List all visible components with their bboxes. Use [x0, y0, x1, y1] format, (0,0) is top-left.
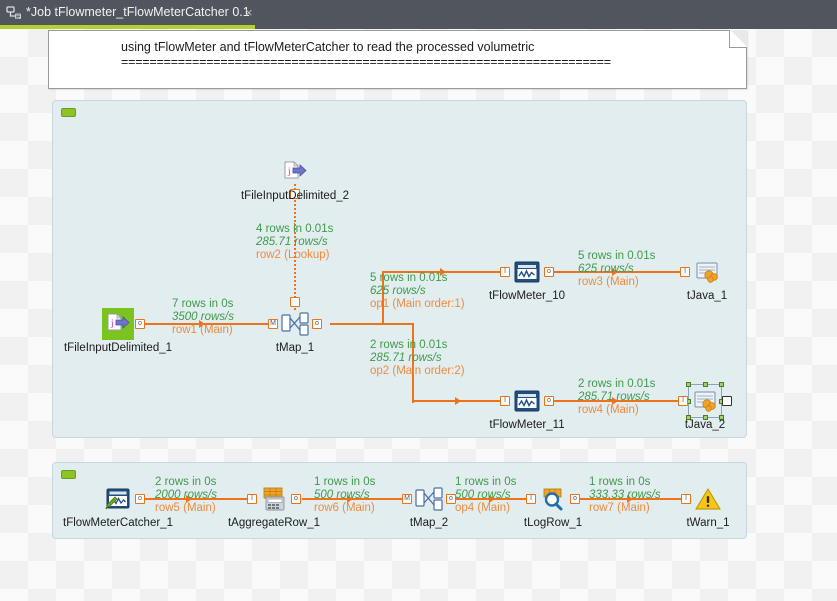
- main-input-port[interactable]: l: [681, 494, 691, 504]
- main-input-port[interactable]: l: [678, 396, 688, 406]
- resize-handle-nw[interactable]: [686, 382, 691, 387]
- job-note[interactable]: using tFlowMeter and tFlowMeterCatcher t…: [48, 30, 747, 89]
- component-label: tFlowMeter_10: [489, 290, 565, 302]
- flowmeter-icon: [511, 385, 543, 417]
- java-icon: [691, 256, 723, 288]
- component-tflowmetercatcher-1[interactable]: o tFlowMeterCatcher_1: [102, 483, 134, 515]
- logrow-icon: [537, 483, 569, 515]
- java-icon: [689, 385, 721, 417]
- note-text-line-2: ========================================…: [121, 55, 611, 69]
- main-input-port[interactable]: l: [526, 494, 536, 504]
- port-label: l: [501, 267, 509, 277]
- component-tflowmeter-10[interactable]: l o tFlowMeter_10: [511, 256, 543, 288]
- output-port[interactable]: o: [544, 396, 554, 406]
- output-port[interactable]: o: [135, 319, 145, 329]
- flowmeter-catcher-icon: [102, 483, 134, 515]
- file-input-delimited-icon: j: [102, 308, 134, 340]
- note-text-line-1: using tFlowMeter and tFlowMeterCatcher t…: [121, 40, 534, 54]
- port-label: l: [527, 494, 535, 504]
- output-port[interactable]: o: [312, 319, 322, 329]
- output-port[interactable]: o: [135, 494, 145, 504]
- component-label: tMap_1: [276, 342, 314, 354]
- component-tmap-2[interactable]: M o tMap_2: [413, 483, 445, 515]
- link-label-row7: 1 rows in 0s 333.33 rows/s row7 (Main): [589, 476, 661, 515]
- port-label: o: [313, 319, 321, 329]
- output-port[interactable]: o: [446, 494, 456, 504]
- subjob-collapse-toggle[interactable]: [61, 108, 76, 117]
- component-twarn-1[interactable]: l tWarn_1: [692, 483, 724, 515]
- component-tjava-2[interactable]: l tJava_2: [689, 385, 721, 417]
- flowmeter-icon: [511, 256, 543, 288]
- link-label-row1: 7 rows in 0s 3500 rows/s row1 (Main): [172, 298, 234, 337]
- main-input-port[interactable]: M: [402, 494, 412, 504]
- port-label: l: [501, 396, 509, 406]
- main-input-port[interactable]: l: [500, 396, 510, 406]
- main-input-port[interactable]: l: [500, 267, 510, 277]
- port-label: l: [679, 396, 687, 406]
- link-label-row6: 1 rows in 0s 500 rows/s row6 (Main): [314, 476, 375, 515]
- job-tab-icon: [6, 5, 22, 21]
- component-tlogrow-1[interactable]: l o tLogRow_1: [537, 483, 569, 515]
- link-tmap1-out[interactable]: [330, 323, 383, 325]
- talend-job-designer: *Job tFlowmeter_tFlowMeterCatcher 0.1 × …: [0, 0, 837, 601]
- warn-icon: [692, 483, 724, 515]
- link-label-row2: 4 rows in 0.01s 285.71 rows/s row2 (Look…: [256, 223, 333, 262]
- main-input-port[interactable]: l: [680, 267, 690, 277]
- component-label: tWarn_1: [686, 517, 729, 529]
- output-port[interactable]: o: [570, 494, 580, 504]
- resize-handle-ne[interactable]: [719, 382, 724, 387]
- component-tflowmeter-11[interactable]: l o tFlowMeter_11: [511, 385, 543, 417]
- link-label-row3: 5 rows in 0.01s 625 rows/s row3 (Main): [578, 250, 655, 289]
- note-fold-corner: [729, 30, 747, 48]
- svg-text:j: j: [110, 318, 114, 328]
- output-port[interactable]: o: [544, 267, 554, 277]
- link-label-op2: 2 rows in 0.01s 285.71 rows/s op2 (Main …: [370, 339, 465, 378]
- port-label: M: [403, 494, 411, 504]
- link-label-row4: 2 rows in 0.01s 285.71 rows/s row4 (Main…: [578, 378, 655, 417]
- subjob-collapse-toggle[interactable]: [61, 470, 76, 479]
- port-label: o: [136, 494, 144, 504]
- component-label: tFlowMeter_11: [489, 419, 564, 431]
- lookup-input-port[interactable]: [290, 297, 300, 307]
- main-input-port[interactable]: M: [268, 319, 278, 329]
- main-input-port[interactable]: l: [247, 494, 257, 504]
- component-label: tFileInputDelimited_1: [64, 342, 172, 354]
- port-label: o: [545, 267, 553, 277]
- port-label: o: [136, 319, 144, 329]
- file-input-delimited-icon: j: [279, 156, 311, 188]
- component-label: tMap_2: [410, 517, 448, 529]
- port-label: o: [571, 494, 579, 504]
- component-label: tLogRow_1: [524, 517, 582, 529]
- component-tfileinputdelimited-2[interactable]: j tFileInputDelimited_2: [279, 156, 311, 188]
- link-op2-arrow: [455, 397, 461, 405]
- resize-handle-n[interactable]: [703, 382, 708, 387]
- port-label: l: [682, 494, 690, 504]
- port-label: M: [269, 319, 277, 329]
- job-design-canvas[interactable]: using tFlowMeter and tFlowMeterCatcher t…: [0, 29, 837, 601]
- component-label: tAggregateRow_1: [228, 517, 320, 529]
- job-tab-title[interactable]: *Job tFlowmeter_tFlowMeterCatcher 0.1: [26, 4, 250, 21]
- component-taggregaterow-1[interactable]: l o tAggregateRow_1: [258, 483, 290, 515]
- component-tmap-1[interactable]: M o tMap_1: [279, 308, 311, 340]
- port-label: l: [248, 494, 256, 504]
- tmap-icon: [413, 483, 445, 515]
- link-label-op1: 5 rows in 0.01s 625 rows/s op1 (Main ord…: [370, 272, 465, 311]
- aggregate-row-icon: [258, 483, 290, 515]
- component-tfileinputdelimited-1[interactable]: j o tFileInputDelimited_1: [102, 308, 134, 340]
- port-label: l: [681, 267, 689, 277]
- component-label: tFileInputDelimited_2: [241, 190, 349, 202]
- svg-text:j: j: [287, 166, 291, 176]
- component-label: tFlowMeterCatcher_1: [63, 517, 173, 529]
- output-port[interactable]: o: [291, 494, 301, 504]
- port-label: o: [447, 494, 455, 504]
- link-label-row5: 2 rows in 0s 2000 rows/s row5 (Main): [155, 476, 217, 515]
- output-port[interactable]: [722, 396, 732, 406]
- component-tjava-1[interactable]: l tJava_1: [691, 256, 723, 288]
- link-label-op4: 1 rows in 0s 500 rows/s op4 (Main): [455, 476, 516, 515]
- tmap-icon: [279, 308, 311, 340]
- port-label: o: [292, 494, 300, 504]
- job-tab-bar: *Job tFlowmeter_tFlowMeterCatcher 0.1 ×: [0, 0, 837, 25]
- port-label: o: [545, 396, 553, 406]
- component-label: tJava_1: [687, 290, 727, 302]
- close-icon[interactable]: ×: [245, 5, 253, 20]
- link-op2-stub: [383, 323, 414, 325]
- component-label: tJava_2: [685, 419, 725, 431]
